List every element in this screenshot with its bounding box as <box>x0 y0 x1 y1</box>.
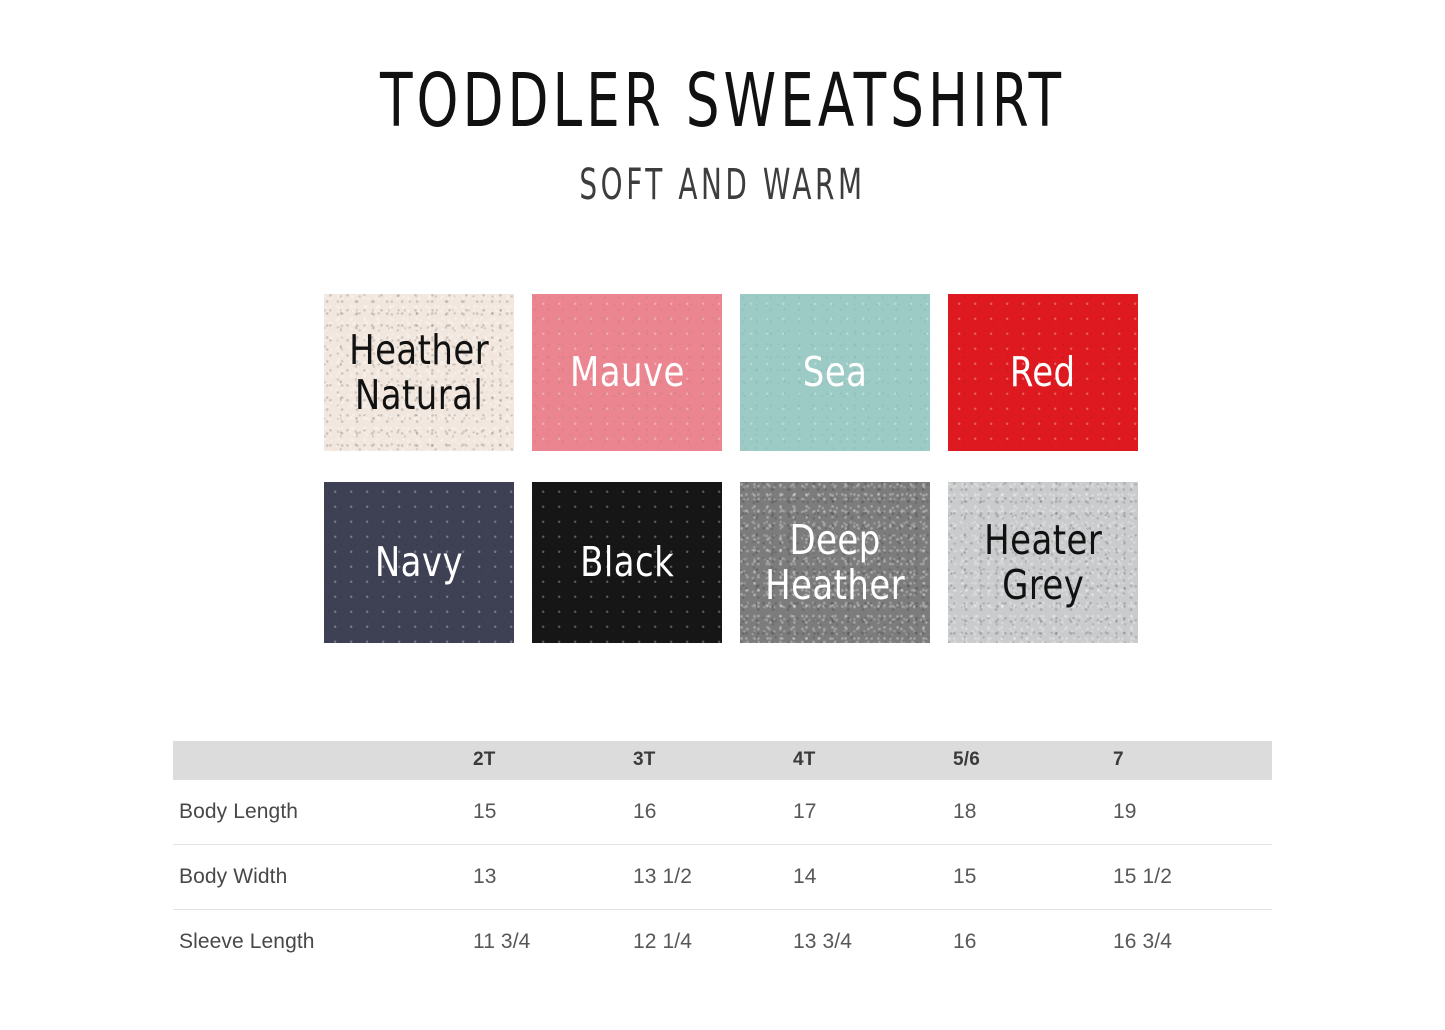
page-header: TODDLER SWEATSHIRT SOFT AND WARM <box>0 62 1445 208</box>
measurement-value: 19 <box>1113 780 1272 845</box>
page-subtitle: SOFT AND WARM <box>202 162 1242 208</box>
size-column-header-5-6: 5/6 <box>953 741 1113 780</box>
color-swatch-label: Black <box>580 540 674 585</box>
color-swatch-mauve[interactable]: Mauve <box>532 294 722 451</box>
color-swatch-label: Red <box>1010 350 1076 395</box>
measurement-value: 18 <box>953 780 1113 845</box>
color-swatch-red[interactable]: Red <box>948 294 1138 451</box>
measurement-value: 16 <box>633 780 793 845</box>
color-swatch-navy[interactable]: Navy <box>324 482 514 643</box>
size-table-body: Body Length1516171819Body Width1313 1/21… <box>173 780 1272 974</box>
size-column-header-7: 7 <box>1113 741 1272 780</box>
measurement-value: 17 <box>793 780 953 845</box>
color-swatch-heater-grey[interactable]: Heater Grey <box>948 482 1138 643</box>
color-swatch-deep-heather[interactable]: Deep Heather <box>740 482 930 643</box>
measurement-label: Body Width <box>173 845 473 910</box>
color-swatch-label: Sea <box>803 350 868 395</box>
color-swatch-black[interactable]: Black <box>532 482 722 643</box>
size-table-header-row: 2T3T4T5/67 <box>173 741 1272 780</box>
size-table-head: 2T3T4T5/67 <box>173 741 1272 780</box>
color-swatch-label: Deep Heather <box>765 518 905 608</box>
table-row: Body Length1516171819 <box>173 780 1272 845</box>
color-swatch-label: Navy <box>375 540 463 585</box>
size-chart-table: 2T3T4T5/67 Body Length1516171819Body Wid… <box>173 741 1272 974</box>
color-swatch-label: Heater Grey <box>984 518 1102 608</box>
measurement-value: 13 3/4 <box>793 910 953 975</box>
color-swatch-grid: Heather NaturalMauveSeaRedNavyBlackDeep … <box>324 294 1136 643</box>
measurement-value: 15 <box>473 780 633 845</box>
measurement-value: 13 <box>473 845 633 910</box>
size-column-header-2T: 2T <box>473 741 633 780</box>
size-column-header-3T: 3T <box>633 741 793 780</box>
table-row: Sleeve Length11 3/412 1/413 3/41616 3/4 <box>173 910 1272 975</box>
measurement-value: 14 <box>793 845 953 910</box>
size-column-header-4T: 4T <box>793 741 953 780</box>
color-swatch-label: Mauve <box>570 350 685 395</box>
page-title: TODDLER SWEATSHIRT <box>145 62 1301 140</box>
measurement-value: 15 <box>953 845 1113 910</box>
measurement-value: 15 1/2 <box>1113 845 1272 910</box>
color-swatch-heather-natural[interactable]: Heather Natural <box>324 294 514 451</box>
measurement-value: 13 1/2 <box>633 845 793 910</box>
color-swatch-sea[interactable]: Sea <box>740 294 930 451</box>
measurement-label: Sleeve Length <box>173 910 473 975</box>
table-row: Body Width1313 1/2141515 1/2 <box>173 845 1272 910</box>
measurement-value: 16 3/4 <box>1113 910 1272 975</box>
size-chart-page: TODDLER SWEATSHIRT SOFT AND WARM Heather… <box>0 0 1445 1030</box>
measurement-value: 12 1/4 <box>633 910 793 975</box>
size-table-corner-header <box>173 741 473 780</box>
measurement-label: Body Length <box>173 780 473 845</box>
measurement-value: 11 3/4 <box>473 910 633 975</box>
color-swatch-label: Heather Natural <box>349 328 489 418</box>
measurement-value: 16 <box>953 910 1113 975</box>
